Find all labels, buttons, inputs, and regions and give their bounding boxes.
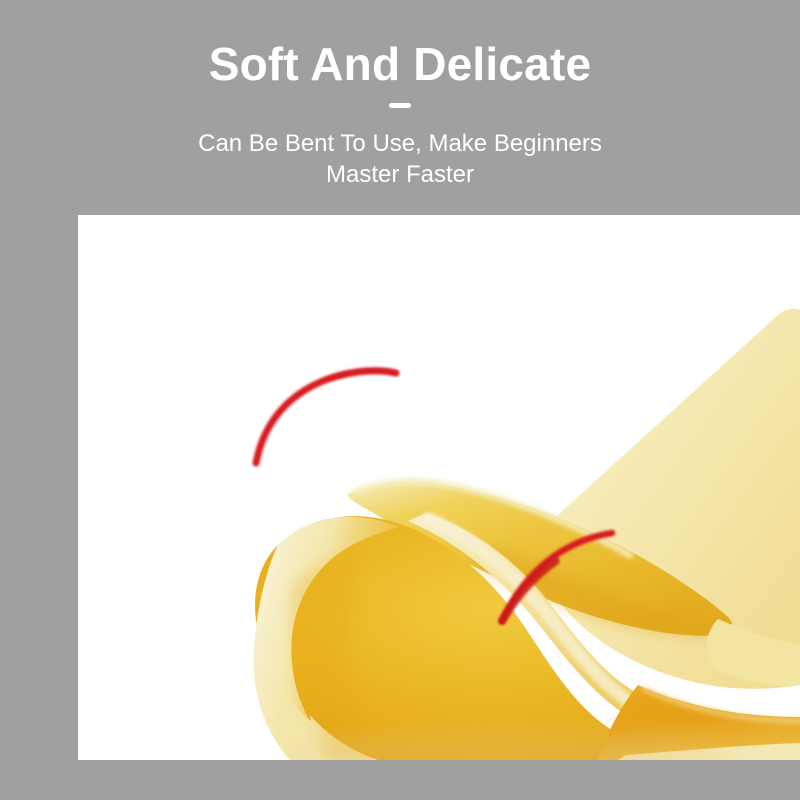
product-illustration [78,215,800,760]
page-subtitle-line-2: Master Faster [100,159,700,190]
product-photo [78,215,800,760]
page-title: Soft And Delicate [0,36,800,92]
product-feature-banner: Soft And Delicate Can Be Bent To Use, Ma… [0,0,800,800]
dash-divider-icon [389,103,411,108]
page-subtitle: Can Be Bent To Use, Make Beginners Maste… [100,128,700,190]
page-subtitle-line-1: Can Be Bent To Use, Make Beginners [100,128,700,159]
banner-header: Soft And Delicate Can Be Bent To Use, Ma… [0,0,800,215]
product-image-panel [78,215,800,760]
